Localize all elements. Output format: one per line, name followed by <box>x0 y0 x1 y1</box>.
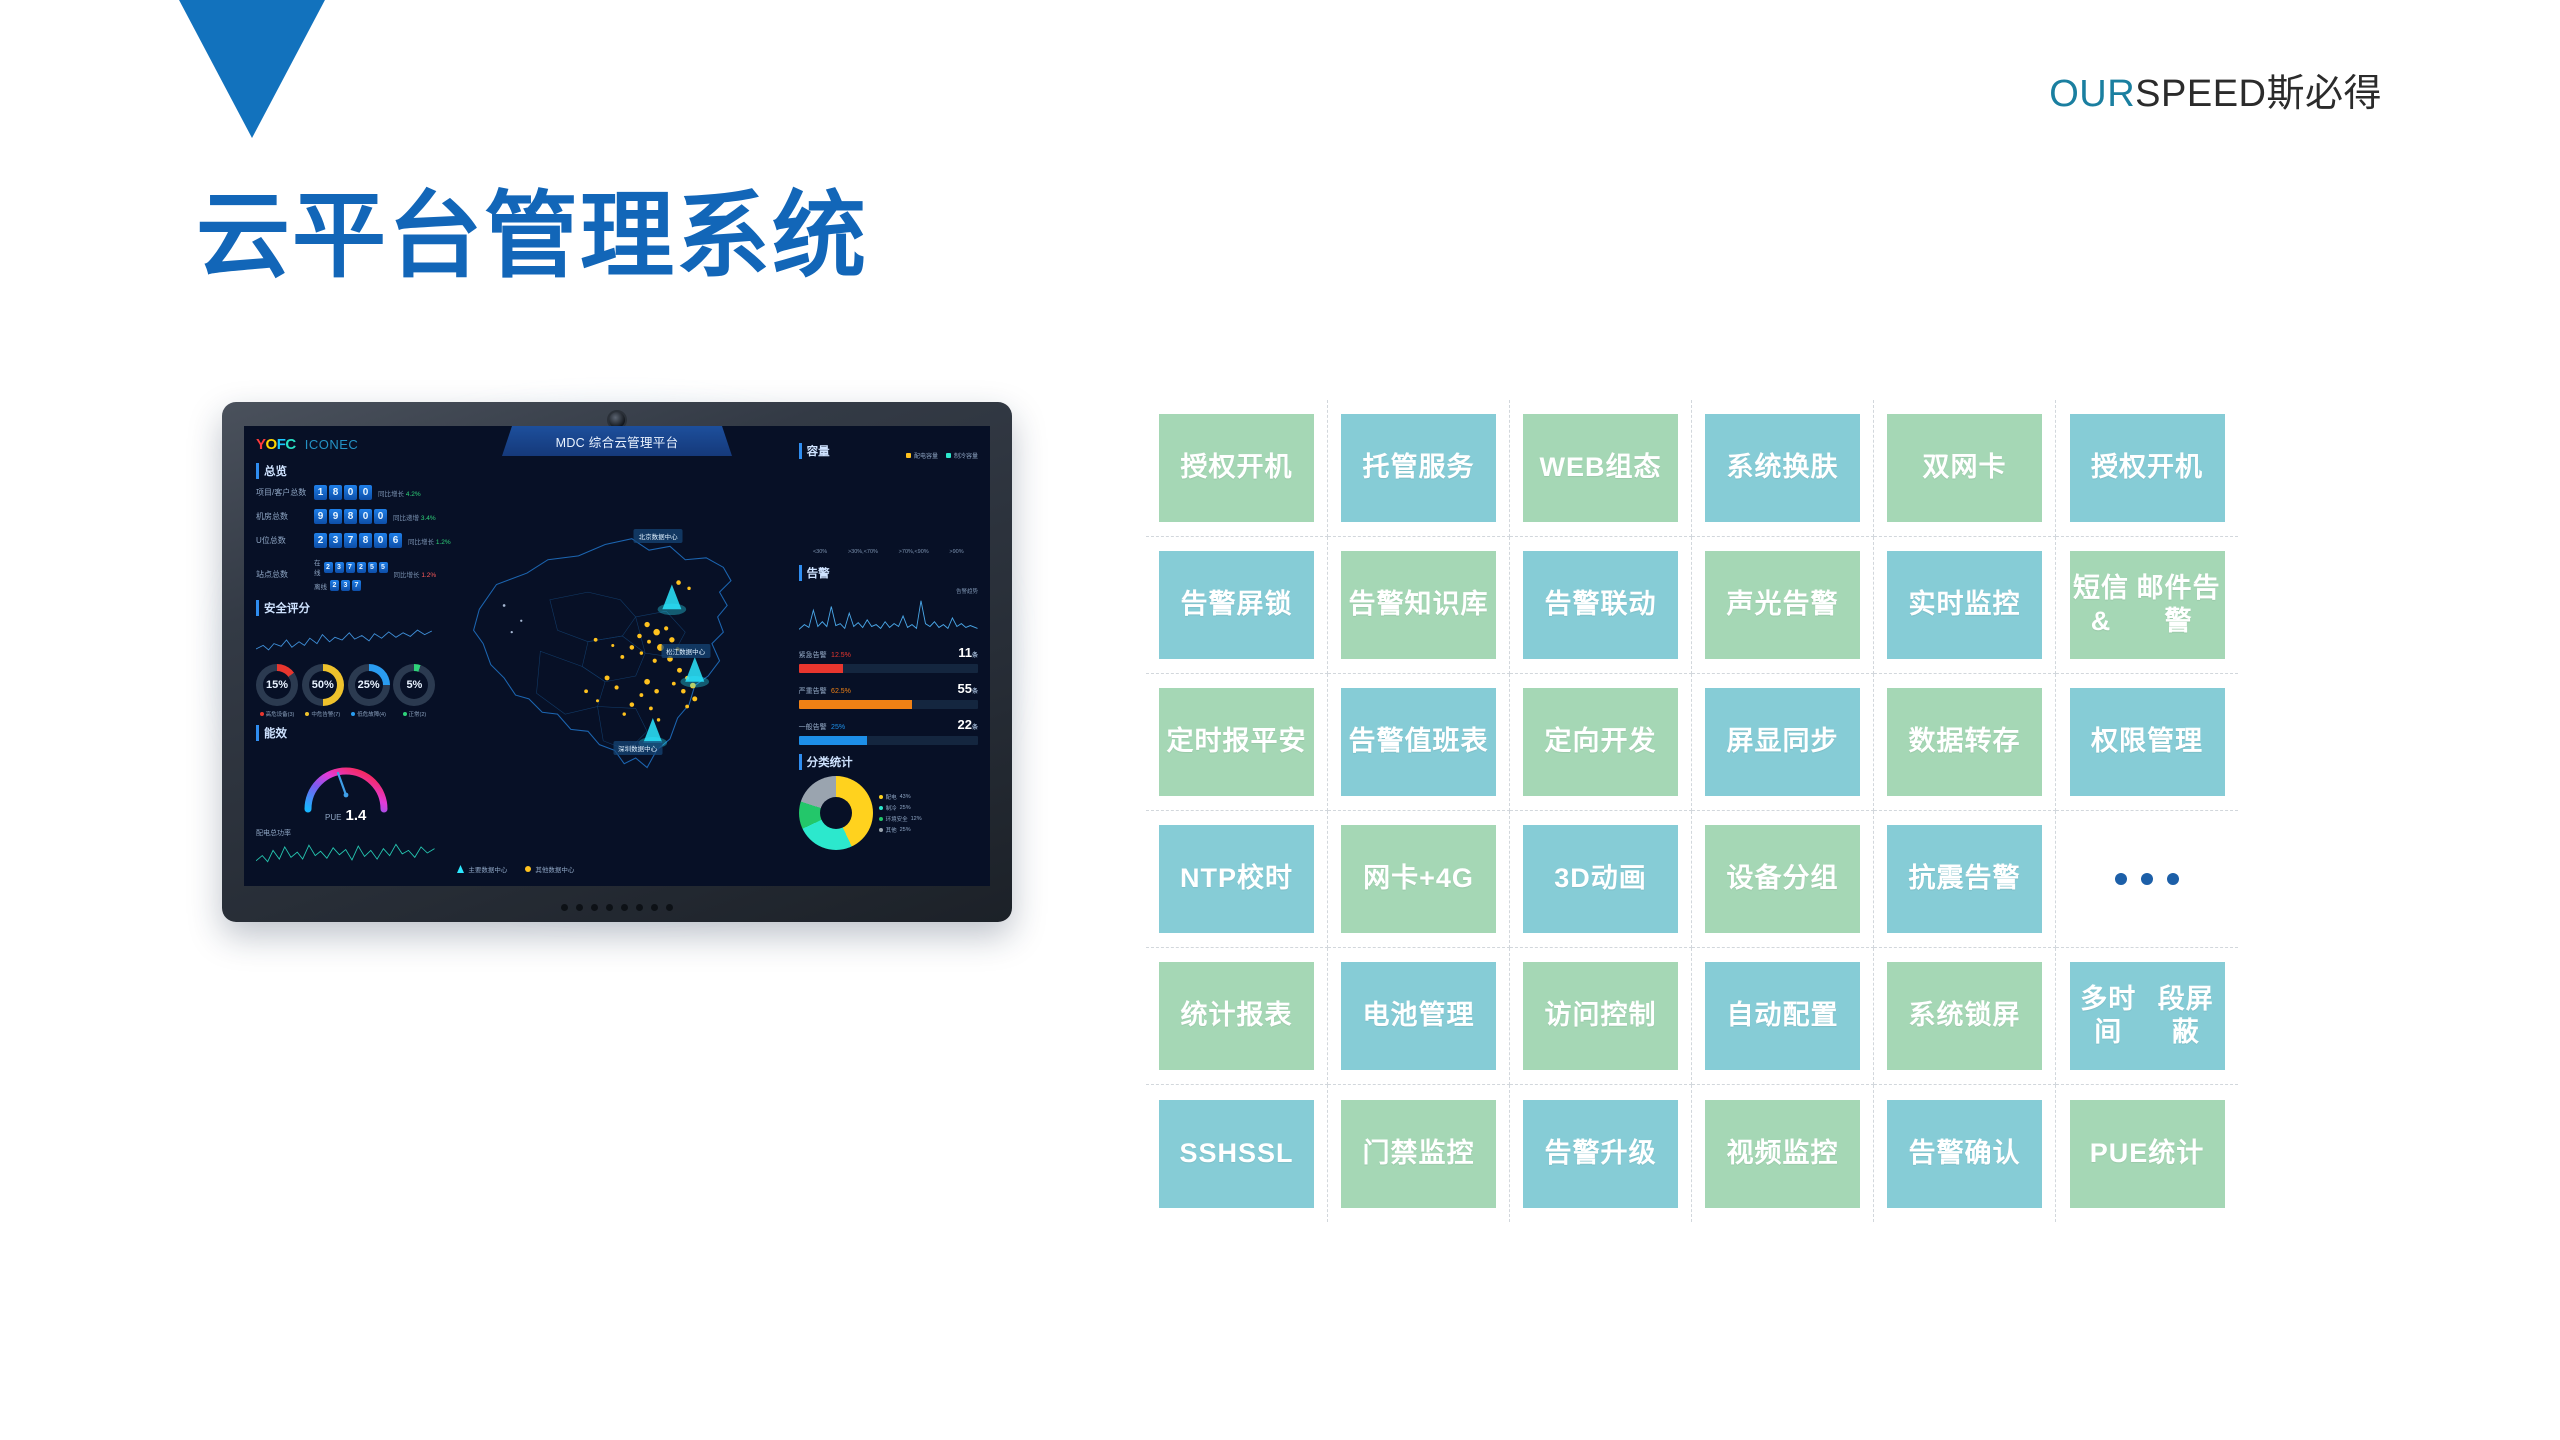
feature-cell: PUE统计 <box>2056 1085 2238 1222</box>
stat-row: 项目/客户总数 1800 同比增长 4.2% <box>256 485 435 500</box>
pue-gauge-arc <box>294 747 398 813</box>
map-legend-item: 主要数据中心 <box>457 864 507 874</box>
feature-tile-line: 系统 <box>1727 451 1783 484</box>
feature-cell: 双网卡 <box>1874 400 2056 537</box>
yofc-logo: YOFC <box>256 436 296 453</box>
feature-tile-line: 报表 <box>1237 999 1293 1032</box>
feature-tile-line: 视频 <box>1727 1137 1783 1170</box>
feature-tile-line: 锁屏 <box>1965 999 2021 1032</box>
feature-tile-line: 配置 <box>1783 999 1839 1032</box>
feature-cell: 设备分组 <box>1692 811 1874 948</box>
feature-tile[interactable]: 网卡+4G <box>1341 825 1496 933</box>
feature-tile[interactable]: 视频监控 <box>1705 1100 1860 1208</box>
feature-tile-line: 告警 <box>1783 588 1839 621</box>
feature-tile-line: 告警 <box>1909 1137 1965 1170</box>
beacon-icon <box>457 865 464 873</box>
feature-tile-line: 自动 <box>1727 999 1783 1032</box>
stat-delta: 同比递增 3.4% <box>393 512 436 522</box>
feature-tile-line: 段屏蔽 <box>2147 983 2225 1050</box>
feature-tile-line: 告警 <box>1965 862 2021 895</box>
donut-caption: 低危故障(4) <box>348 710 390 718</box>
alarm-bar: 紧急告警 12.5% 11条 <box>799 644 978 673</box>
feature-tile[interactable]: SSHSSL <box>1159 1100 1314 1208</box>
feature-tile[interactable]: 定向开发 <box>1523 688 1678 796</box>
page-title: 云平台管理系统 <box>196 185 868 288</box>
capacity-bar-chart <box>799 460 978 546</box>
feature-tile-line: 授权 <box>1181 451 1237 484</box>
feature-tile-line: 知识库 <box>1405 588 1489 621</box>
feature-tile-line: PUE <box>2090 1137 2149 1170</box>
feature-tile[interactable]: 双网卡 <box>1887 414 2042 522</box>
feature-tile[interactable]: 电池管理 <box>1341 962 1496 1070</box>
china-map-panel: 北京数据中心 松江数据中心 深圳数据中心 主要数据中心 其他数据中心 <box>445 426 788 886</box>
feature-cell: 多时间段屏蔽 <box>2056 948 2238 1085</box>
stat-label: U位总数 <box>256 535 308 546</box>
feature-cell: 统计报表 <box>1146 948 1328 1085</box>
alarm-trend-legend: 告警趋势 <box>799 587 978 595</box>
feature-cell: 定时报平安 <box>1146 674 1328 811</box>
feature-tile-line: 开机 <box>1237 451 1293 484</box>
feature-tile[interactable]: 授权开机 <box>1159 414 1314 522</box>
feature-cell: 声光告警 <box>1692 537 1874 674</box>
feature-tile[interactable]: 设备分组 <box>1705 825 1860 933</box>
feature-cell: 实时监控 <box>1874 537 2056 674</box>
feature-cell: 电池管理 <box>1328 948 1510 1085</box>
corner-triangle-decoration <box>178 0 326 138</box>
power-label: 配电总功率 <box>256 828 435 838</box>
feature-cell: 告警知识库 <box>1328 537 1510 674</box>
security-donut: 50% 中危告警(7) <box>302 664 344 718</box>
feature-tile-line: 校时 <box>1237 862 1293 895</box>
dashboard-right-panel: 容量 配电容量 制冷容量 <30% >30%,<70% >70%,<90% >9… <box>789 426 990 886</box>
x-tick: <30% <box>813 549 827 555</box>
dot-icon <box>525 866 531 872</box>
feature-tile-line: 升级 <box>1601 1137 1657 1170</box>
stat-digits-online: 237255 <box>324 562 388 573</box>
feature-tile-line: 电池 <box>1363 999 1419 1032</box>
feature-tile[interactable]: 告警值班表 <box>1341 688 1496 796</box>
feature-tile-line: NTP <box>1180 862 1237 895</box>
feature-tile[interactable]: 实时监控 <box>1887 551 2042 659</box>
feature-cell: NTP校时 <box>1146 811 1328 948</box>
brand-chinese: 斯必得 <box>2266 73 2382 115</box>
feature-cell: 授权开机 <box>2056 400 2238 537</box>
stat-row: 站点总数 在线 237255 离线 237 同比增长 1.2% <box>256 557 435 591</box>
feature-tile-line: 动画 <box>1591 862 1647 895</box>
alarm-pct: 12.5% <box>831 652 851 659</box>
feature-tile-line: 服务 <box>1419 451 1475 484</box>
feature-tile-line: 统计 <box>2148 1137 2204 1170</box>
feature-cell: 系统换肤 <box>1692 400 1874 537</box>
feature-tile-line: 定时 <box>1167 725 1223 758</box>
feature-tile[interactable]: 告警升级 <box>1523 1100 1678 1208</box>
feature-tile-line: 告警 <box>1545 1137 1601 1170</box>
speaker-dots <box>561 904 673 911</box>
feature-tile-line: 控制 <box>1601 999 1657 1032</box>
security-donut: 15% 高危设备(3) <box>256 664 298 718</box>
feature-tile[interactable]: PUE统计 <box>2070 1100 2225 1208</box>
map-tag-songjiang: 松江数据中心 <box>661 644 710 658</box>
feature-tile[interactable]: WEB组态 <box>1523 414 1678 522</box>
feature-tile-line: 组态 <box>1606 451 1662 484</box>
capacity-x-axis: <30% >30%,<70% >70%,<90% >90% <box>799 546 978 555</box>
ellipsis-dots-icon <box>2115 873 2179 885</box>
feature-cell: 告警屏锁 <box>1146 537 1328 674</box>
feature-cell: 抗震告警 <box>1874 811 2056 948</box>
feature-tile-line: 监控 <box>1965 588 2021 621</box>
donut-caption: 高危设备(3) <box>256 710 298 718</box>
feature-cell: 授权开机 <box>1146 400 1328 537</box>
stat-digits: 99800 <box>314 509 387 524</box>
alarm-count: 11条 <box>958 645 978 660</box>
security-donut: 5% 正常(2) <box>393 664 435 718</box>
alarm-pct: 62.5% <box>831 688 851 695</box>
feature-cell: 短信&邮件告警 <box>2056 537 2238 674</box>
feature-tile-line: 监控 <box>1419 1137 1475 1170</box>
stat-row: 机房总数 99800 同比递增 3.4% <box>256 509 435 524</box>
donut-value: 50% <box>302 664 344 706</box>
more-features-ellipsis <box>2070 825 2225 933</box>
feature-tile[interactable]: 数据转存 <box>1887 688 2042 796</box>
feature-tile[interactable]: 告警屏锁 <box>1159 551 1314 659</box>
alarm-section-title: 告警 <box>799 565 978 581</box>
feature-tile[interactable]: 告警联动 <box>1523 551 1678 659</box>
feature-tile-line: 3D <box>1554 862 1591 895</box>
feature-grid: 授权开机托管服务WEB组态系统换肤双网卡授权开机告警屏锁告警知识库告警联动声光告… <box>1146 400 2238 1222</box>
feature-tile[interactable]: 屏显同步 <box>1705 688 1860 796</box>
feature-tile-line: 值班表 <box>1405 725 1489 758</box>
feature-cell: SSHSSL <box>1146 1085 1328 1222</box>
feature-tile[interactable]: 定时报平安 <box>1159 688 1314 796</box>
feature-tile-line: 声光 <box>1727 588 1783 621</box>
feature-cell: 权限管理 <box>2056 674 2238 811</box>
capacity-legend-item: 制冷容量 <box>946 451 978 460</box>
feature-tile[interactable]: 3D动画 <box>1523 825 1678 933</box>
feature-tile[interactable]: 权限管理 <box>2070 688 2225 796</box>
feature-cell: 托管服务 <box>1328 400 1510 537</box>
feature-cell: 门禁监控 <box>1328 1085 1510 1222</box>
feature-tile-line: SSL <box>1238 1137 1294 1170</box>
stat-sub-label: 离线 <box>314 581 327 591</box>
feature-tile[interactable]: 统计报表 <box>1159 962 1314 1070</box>
feature-tile-line: 权限 <box>2091 725 2147 758</box>
feature-tile-line: 数据 <box>1909 725 1965 758</box>
feature-tile-line: 管理 <box>1419 999 1475 1032</box>
feature-tile-line: 监控 <box>1783 1137 1839 1170</box>
china-map <box>445 426 788 886</box>
category-section-title: 分类统计 <box>799 754 978 770</box>
power-sparkline <box>256 840 435 866</box>
security-donuts: 15% 高危设备(3) 50% 中危告警(7) 25% <box>256 664 435 718</box>
feature-cell: 视频监控 <box>1692 1085 1874 1222</box>
feature-tile[interactable]: 告警确认 <box>1887 1100 2042 1208</box>
stat-delta: 同比增长 4.2% <box>378 488 421 498</box>
legend-item: 环境安全 12% <box>879 815 922 823</box>
feature-tile-line: 告警 <box>1349 725 1405 758</box>
feature-tile-line: SSH <box>1179 1137 1238 1170</box>
dashboard-left-panel: YOFC ICONEC 总览 项目/客户总数 1800 同比增长 4.2% 机房… <box>244 426 445 886</box>
feature-cell: 告警联动 <box>1510 537 1692 674</box>
map-tag-shenzhen: 深圳数据中心 <box>613 741 662 755</box>
feature-tile[interactable]: 访问控制 <box>1523 962 1678 1070</box>
dashboard-logo: YOFC ICONEC <box>256 436 435 453</box>
feature-tile-line: 确认 <box>1965 1137 2021 1170</box>
feature-tile-line: 屏锁 <box>1237 588 1293 621</box>
donut-value: 5% <box>393 664 435 706</box>
category-pie-chart: 配电 43% 制冷 25% 环境安全 12% 其他 25% <box>799 776 978 850</box>
map-legend-item: 其他数据中心 <box>525 864 574 874</box>
feature-cell: 系统锁屏 <box>1874 948 2056 1085</box>
feature-tile-line: 告警 <box>1349 588 1405 621</box>
feature-tile[interactable]: 声光告警 <box>1705 551 1860 659</box>
map-tag-beijing: 北京数据中心 <box>634 529 683 543</box>
feature-tile-line: 托管 <box>1363 451 1419 484</box>
feature-tile-line: WEB <box>1540 451 1606 484</box>
feature-cell <box>2056 811 2238 948</box>
x-tick: >90% <box>949 549 963 555</box>
dashboard-banner-title: MDC 综合云管理平台 <box>502 426 732 456</box>
feature-cell: 自动配置 <box>1692 948 1874 1085</box>
feature-cell: WEB组态 <box>1510 400 1692 537</box>
donut-value: 15% <box>256 664 298 706</box>
stat-sub-stack: 在线 237255 离线 237 <box>314 557 388 591</box>
feature-tile-line: 报平安 <box>1223 725 1307 758</box>
stat-label: 站点总数 <box>256 569 308 580</box>
feature-tile-line: 设备 <box>1727 862 1783 895</box>
feature-tile-line: 开发 <box>1601 725 1657 758</box>
feature-cell: 访问控制 <box>1510 948 1692 1085</box>
donut-value: 25% <box>348 664 390 706</box>
security-donut: 25% 低危故障(4) <box>348 664 390 718</box>
legend-item: 其他 25% <box>879 826 922 834</box>
legend-item: 配电 43% <box>879 793 922 801</box>
monitor-illustration: MDC 综合云管理平台 YOFC ICONEC 总览 项目/客户总数 1800 … <box>222 402 1012 922</box>
capacity-legend-item: 配电容量 <box>906 451 938 460</box>
feature-tile[interactable]: 托管服务 <box>1341 414 1496 522</box>
feature-tile-line: 统计 <box>1181 999 1237 1032</box>
pue-value: 1.4 <box>346 807 367 824</box>
security-section-title: 安全评分 <box>256 600 435 616</box>
feature-cell: 屏显同步 <box>1692 674 1874 811</box>
feature-tile-line: 抗震 <box>1909 862 1965 895</box>
monitor-bezel: MDC 综合云管理平台 YOFC ICONEC 总览 项目/客户总数 1800 … <box>222 402 1012 922</box>
feature-tile-line: 系统 <box>1909 999 1965 1032</box>
monitor-reflection <box>236 928 998 1228</box>
feature-tile-line: 定向 <box>1545 725 1601 758</box>
feature-tile-line: 邮件告警 <box>2132 572 2224 639</box>
feature-tile[interactable]: 抗震告警 <box>1887 825 2042 933</box>
brand-suffix: SPEED <box>2135 73 2266 115</box>
feature-cell: 告警值班表 <box>1328 674 1510 811</box>
alarm-name: 一般告警 <box>799 724 827 731</box>
map-legend: 主要数据中心 其他数据中心 <box>457 864 574 874</box>
stat-delta: 同比增长 1.2% <box>408 536 451 546</box>
feature-tile-line: 门禁 <box>1363 1137 1419 1170</box>
feature-tile[interactable]: 门禁监控 <box>1341 1100 1496 1208</box>
stat-delta: 同比增长 1.2% <box>394 569 437 579</box>
feature-tile-line: 访问 <box>1545 999 1601 1032</box>
legend-item: 制冷 25% <box>879 804 922 812</box>
feature-tile-line: +4G <box>1419 862 1474 895</box>
feature-tile[interactable]: NTP校时 <box>1159 825 1314 933</box>
feature-tile[interactable]: 告警知识库 <box>1341 551 1496 659</box>
alarm-trend-line <box>799 595 978 637</box>
category-legend: 配电 43% 制冷 25% 环境安全 12% 其他 25% <box>879 793 922 834</box>
feature-tile[interactable]: 授权开机 <box>2070 414 2225 522</box>
feature-cell: 定向开发 <box>1510 674 1692 811</box>
dashboard-screen: MDC 综合云管理平台 YOFC ICONEC 总览 项目/客户总数 1800 … <box>244 426 990 886</box>
brand-prefix: OUR <box>2049 73 2135 115</box>
feature-tile-line: 屏显 <box>1727 725 1783 758</box>
feature-tile-line: 分组 <box>1783 862 1839 895</box>
feature-tile-line: 联动 <box>1601 588 1657 621</box>
stat-sub-label: 在线 <box>314 557 321 577</box>
feature-tile-line: 多时间 <box>2070 983 2148 1050</box>
iconec-logo: ICONEC <box>305 437 359 452</box>
alarm-count: 55条 <box>958 681 978 696</box>
alarm-name: 严重告警 <box>799 688 827 695</box>
feature-tile[interactable]: 自动配置 <box>1705 962 1860 1070</box>
feature-tile-line: 网卡 <box>1363 862 1419 895</box>
stat-digits: 1800 <box>314 485 372 500</box>
feature-cell: 数据转存 <box>1874 674 2056 811</box>
feature-tile-line: 换肤 <box>1783 451 1839 484</box>
pue-gauge: PUE 1.4 <box>256 747 435 824</box>
alarm-bar: 严重告警 62.5% 55条 <box>799 680 978 709</box>
feature-tile-line: 实时 <box>1909 588 1965 621</box>
stat-row: U位总数 237806 同比增长 1.2% <box>256 533 435 548</box>
alarm-name: 紧急告警 <box>799 652 827 659</box>
energy-section-title: 能效 <box>256 725 435 741</box>
feature-cell: 告警确认 <box>1874 1085 2056 1222</box>
feature-tile-line: 双网卡 <box>1923 451 2007 484</box>
overview-section-title: 总览 <box>256 463 435 479</box>
feature-tile-line: 同步 <box>1783 725 1839 758</box>
stat-digits: 237806 <box>314 533 402 548</box>
feature-cell: 告警升级 <box>1510 1085 1692 1222</box>
feature-cell: 3D动画 <box>1510 811 1692 948</box>
donut-caption: 正常(2) <box>393 710 435 718</box>
feature-tile-line: 短信& <box>2070 572 2133 639</box>
alarm-count: 22条 <box>958 717 978 732</box>
brand-logo: OURSPEED斯必得 <box>2049 62 2382 117</box>
x-tick: >30%,<70% <box>848 549 878 555</box>
security-trend-sparkline <box>256 622 435 658</box>
alarm-pct: 25% <box>831 724 845 731</box>
feature-tile-line: 告警 <box>1181 588 1237 621</box>
feature-tile-line: 告警 <box>1545 588 1601 621</box>
x-tick: >70%,<90% <box>899 549 929 555</box>
feature-tile-line: 管理 <box>2147 725 2203 758</box>
stat-digits-offline: 237 <box>330 580 361 591</box>
pue-label: PUE <box>325 813 341 822</box>
feature-tile-line: 转存 <box>1965 725 2021 758</box>
feature-cell: 网卡+4G <box>1328 811 1510 948</box>
donut-caption: 中危告警(7) <box>302 710 344 718</box>
stat-label: 机房总数 <box>256 511 308 522</box>
stat-label: 项目/客户总数 <box>256 487 308 498</box>
feature-tile[interactable]: 系统换肤 <box>1705 414 1860 522</box>
feature-tile-line: 开机 <box>2147 451 2203 484</box>
feature-tile[interactable]: 系统锁屏 <box>1887 962 2042 1070</box>
feature-tile[interactable]: 短信&邮件告警 <box>2070 551 2225 659</box>
category-donut <box>799 776 873 850</box>
feature-tile-line: 授权 <box>2091 451 2147 484</box>
alarm-bar: 一般告警 25% 22条 <box>799 716 978 745</box>
feature-tile[interactable]: 多时间段屏蔽 <box>2070 962 2225 1070</box>
